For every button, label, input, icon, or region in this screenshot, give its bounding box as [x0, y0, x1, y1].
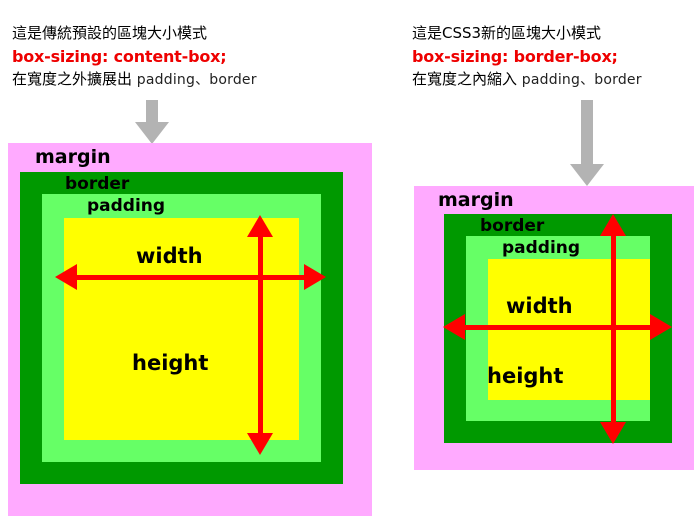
right-caption-code: box-sizing: border-box;	[412, 45, 642, 68]
right-arrow-head	[570, 164, 604, 186]
left-padding-label: padding	[87, 197, 165, 216]
right-margin-box: margin border padding width height	[414, 186, 694, 470]
right-width-label: width	[506, 294, 573, 318]
right-padding-label: padding	[502, 239, 580, 258]
left-height-label: height	[132, 351, 208, 375]
right-width-arrow-shaft	[464, 325, 652, 330]
right-height-arrow-shaft	[611, 236, 616, 424]
right-height-label: height	[487, 364, 563, 388]
left-padding-box: padding	[42, 194, 321, 462]
diagram-canvas: 這是傳統預設的區塊大小模式 box-sizing: content-box; 在…	[0, 0, 700, 514]
left-caption-line-3-en: padding、border	[137, 72, 257, 88]
left-arrow-shaft	[146, 100, 158, 124]
right-border-label: border	[480, 217, 544, 236]
right-height-arrow-head-top	[600, 214, 626, 236]
right-arrow-shaft	[581, 100, 593, 166]
right-caption-line-3-zh: 在寬度之內縮入	[412, 70, 517, 88]
left-width-arrow-head-right	[304, 264, 326, 290]
right-caption-line-1: 這是CSS3新的區塊大小模式	[412, 22, 642, 45]
left-height-arrow-head-bottom	[247, 433, 273, 455]
right-caption-line-3-en: padding、border	[522, 72, 642, 88]
right-gray-down-arrow-icon	[570, 100, 604, 187]
right-width-arrow-head-right	[650, 314, 672, 340]
right-width-arrow-head-left	[443, 314, 465, 340]
left-height-arrow-head-top	[247, 215, 273, 237]
right-margin-label: margin	[438, 191, 514, 210]
right-caption-line-3: 在寬度之內縮入 padding、border	[412, 68, 642, 92]
left-margin-label: margin	[35, 148, 111, 167]
left-caption-code: box-sizing: content-box;	[12, 45, 257, 68]
left-arrow-head	[135, 122, 169, 144]
left-margin-box: margin border padding width height	[8, 143, 372, 516]
left-border-box: border padding	[20, 172, 343, 484]
left-caption-block: 這是傳統預設的區塊大小模式 box-sizing: content-box; 在…	[12, 22, 257, 92]
right-height-arrow-head-bottom	[600, 422, 626, 444]
left-width-arrow-head-left	[55, 264, 77, 290]
right-caption-block: 這是CSS3新的區塊大小模式 box-sizing: border-box; 在…	[412, 22, 642, 92]
left-caption-line-3: 在寬度之外擴展出 padding、border	[12, 68, 257, 92]
left-width-label: width	[136, 244, 203, 268]
left-gray-down-arrow-icon	[135, 100, 169, 144]
left-width-arrow-shaft	[76, 275, 306, 280]
left-caption-line-3-zh: 在寬度之外擴展出	[12, 70, 132, 88]
left-border-label: border	[65, 175, 129, 194]
left-height-arrow-shaft	[258, 237, 263, 435]
left-caption-line-1: 這是傳統預設的區塊大小模式	[12, 22, 257, 45]
